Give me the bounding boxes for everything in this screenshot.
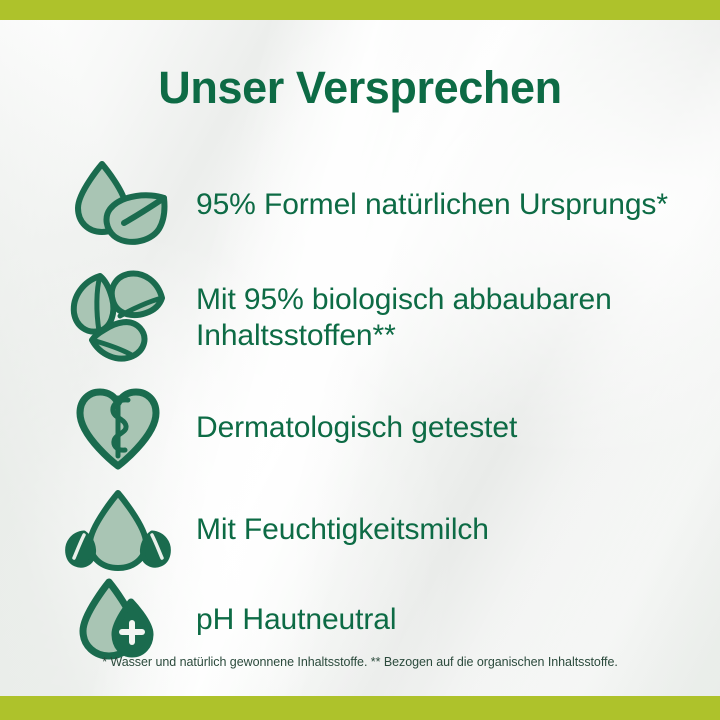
droplet-two-leaves-icon	[55, 480, 180, 580]
list-item: Mit Feuchtigkeitsmilch	[55, 480, 695, 580]
promise-text: Mit Feuchtigkeitsmilch	[196, 512, 695, 548]
heart-caduceus-icon	[55, 378, 180, 478]
brand-bar-top	[0, 0, 720, 20]
promise-text: Dermatologisch getestet	[196, 410, 695, 446]
promise-text: pH Hautneutral	[196, 602, 695, 638]
promise-text: 95% Formel natürlichen Ursprungs*	[196, 187, 695, 223]
footnote-text: * Wasser und natürlich gewonnene Inhalts…	[0, 655, 720, 669]
list-item: 95% Formel natürlichen Ursprungs*	[55, 150, 695, 260]
page-title: Unser Versprechen	[0, 62, 720, 114]
promise-text: Mit 95% biologisch abbaubaren Inhaltssto…	[196, 282, 695, 354]
list-item: Dermatologisch getestet	[55, 378, 695, 478]
brand-bar-bottom	[0, 696, 720, 720]
promise-card: Unser Versprechen 95% Formel natürlichen…	[0, 0, 720, 720]
content-area: Unser Versprechen 95% Formel natürlichen…	[0, 0, 720, 720]
droplet-leaf-icon	[55, 155, 180, 255]
three-leaves-cycle-icon	[55, 268, 180, 368]
list-item: Mit 95% biologisch abbaubaren Inhaltssto…	[55, 263, 695, 373]
